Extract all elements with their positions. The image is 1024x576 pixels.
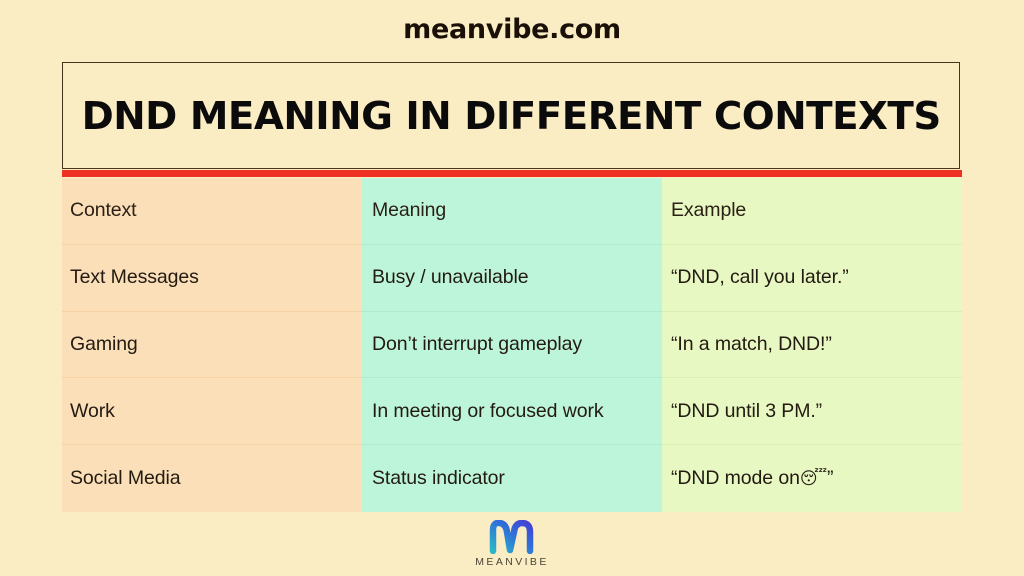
column-header-context: Context xyxy=(62,178,362,245)
cell-example: “DND until 3 PM.” xyxy=(662,378,962,445)
cell-example-suffix: ” xyxy=(827,467,833,490)
cell-example: “DND mode on 😴” xyxy=(662,445,962,512)
site-name: meanvibe.com xyxy=(0,14,1024,45)
cell-context: Social Media xyxy=(62,445,362,512)
title-banner: DND MEANING IN DIFFERENT CONTEXTS xyxy=(62,62,960,169)
table-row: Gaming Don’t interrupt gameplay “In a ma… xyxy=(62,312,962,379)
cell-example-prefix: “DND mode on xyxy=(671,467,800,490)
cell-context: Text Messages xyxy=(62,245,362,312)
cell-context: Gaming xyxy=(62,312,362,379)
cell-context: Work xyxy=(62,378,362,445)
cell-example: “In a match, DND!” xyxy=(662,312,962,379)
cell-example: “DND, call you later.” xyxy=(662,245,962,312)
table-row: Text Messages Busy / unavailable “DND, c… xyxy=(62,245,962,312)
page-title: DND MEANING IN DIFFERENT CONTEXTS xyxy=(81,94,940,138)
table-row: Social Media Status indicator “DND mode … xyxy=(62,445,962,512)
footer: MEANVIBE xyxy=(0,520,1024,568)
cell-meaning: In meeting or focused work xyxy=(362,378,662,445)
meanvibe-m-logo-icon xyxy=(485,520,539,554)
table-row: Work In meeting or focused work “DND unt… xyxy=(62,378,962,445)
column-header-meaning: Meaning xyxy=(362,178,662,245)
cell-meaning: Busy / unavailable xyxy=(362,245,662,312)
dnd-meaning-table: Context Meaning Example Text Messages Bu… xyxy=(62,178,962,512)
sleeping-face-icon: 😴 xyxy=(800,469,827,489)
logo-wordmark: MEANVIBE xyxy=(475,556,548,568)
column-header-example: Example xyxy=(662,178,962,245)
cell-meaning: Status indicator xyxy=(362,445,662,512)
table-header-row: Context Meaning Example xyxy=(62,178,962,245)
cell-meaning: Don’t interrupt gameplay xyxy=(362,312,662,379)
title-underline-bar xyxy=(62,170,962,177)
